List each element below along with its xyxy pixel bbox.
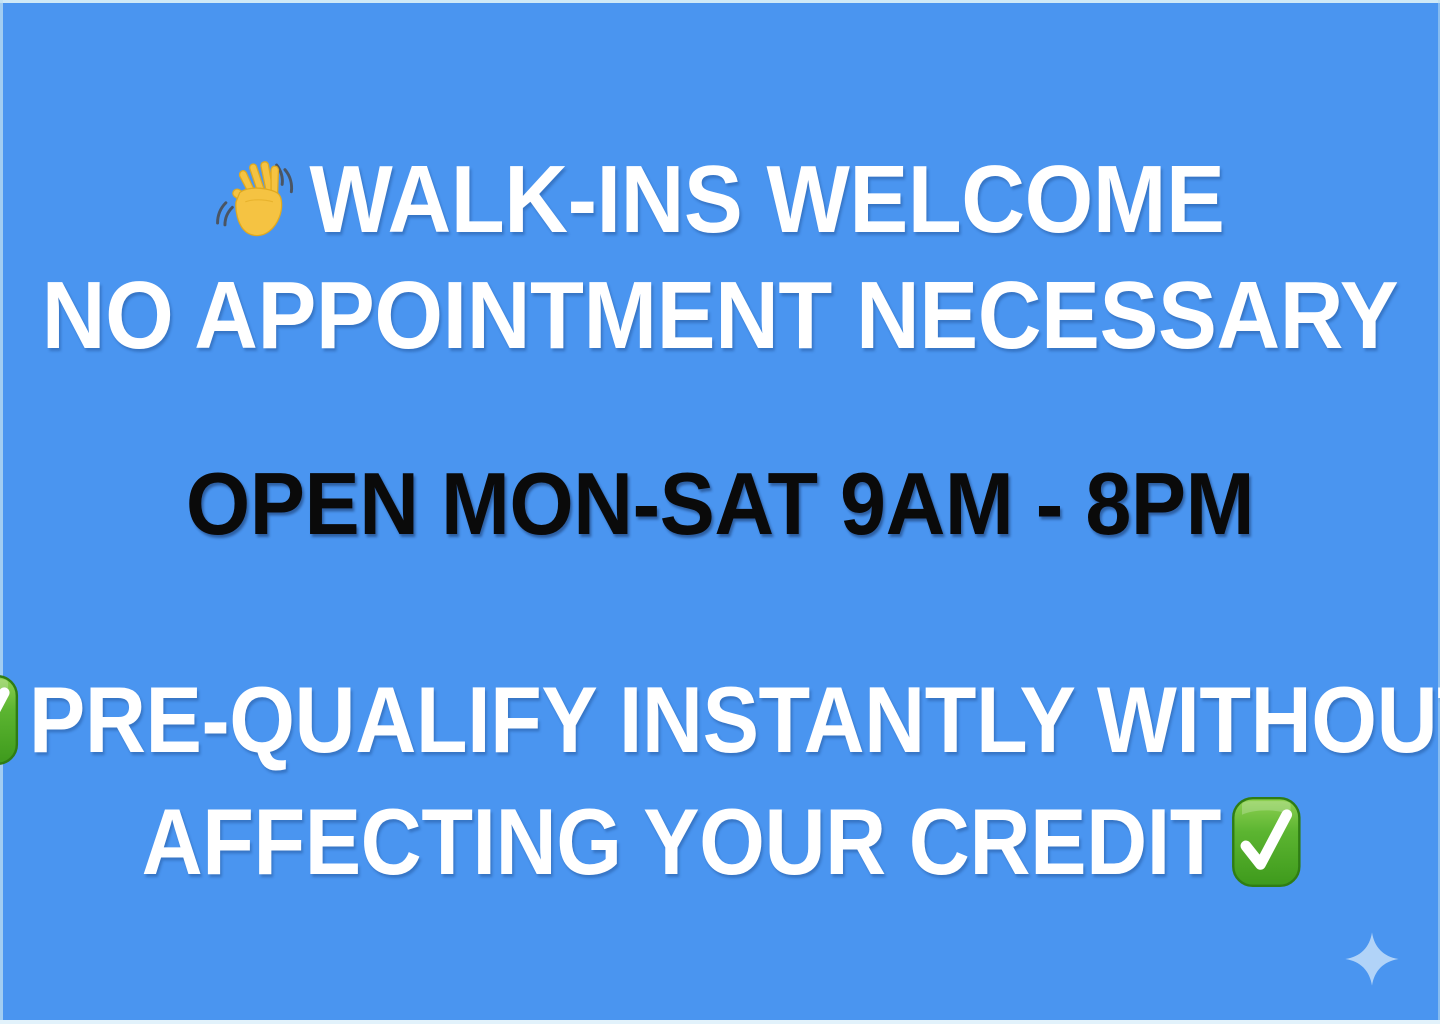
promo-slide: WALK-INS WELCOME NO APPOINTMENT NECESSAR… bbox=[0, 0, 1440, 1024]
headline-walk-ins-welcome-text: WALK-INS WELCOME bbox=[309, 152, 1224, 248]
pre-qualify-line-1-text: PRE-QUALIFY INSTANTLY WITHOUT bbox=[29, 673, 1440, 767]
white-check-mark-icon bbox=[1230, 795, 1302, 889]
headline-walk-ins-welcome: WALK-INS WELCOME bbox=[58, 152, 1383, 248]
business-hours-text: OPEN MON-SAT 9AM - 8PM bbox=[186, 460, 1254, 548]
pre-qualify-line-2: AFFECTING YOUR CREDIT bbox=[72, 795, 1368, 889]
top-edge-highlight bbox=[0, 0, 1440, 3]
bottom-edge-highlight bbox=[0, 1020, 1440, 1024]
waving-hand-icon bbox=[212, 154, 304, 246]
pre-qualify-line-2-text: AFFECTING YOUR CREDIT bbox=[142, 795, 1221, 889]
business-hours: OPEN MON-SAT 9AM - 8PM bbox=[43, 460, 1397, 548]
white-check-mark-icon bbox=[0, 673, 20, 767]
headline-no-appointment-text: NO APPOINTMENT NECESSARY bbox=[42, 268, 1398, 364]
sparkle-icon bbox=[1343, 930, 1401, 988]
pre-qualify-line-1: PRE-QUALIFY INSTANTLY WITHOUT bbox=[72, 673, 1368, 767]
left-edge-highlight bbox=[0, 0, 3, 1024]
headline-no-appointment: NO APPOINTMENT NECESSARY bbox=[58, 268, 1383, 364]
